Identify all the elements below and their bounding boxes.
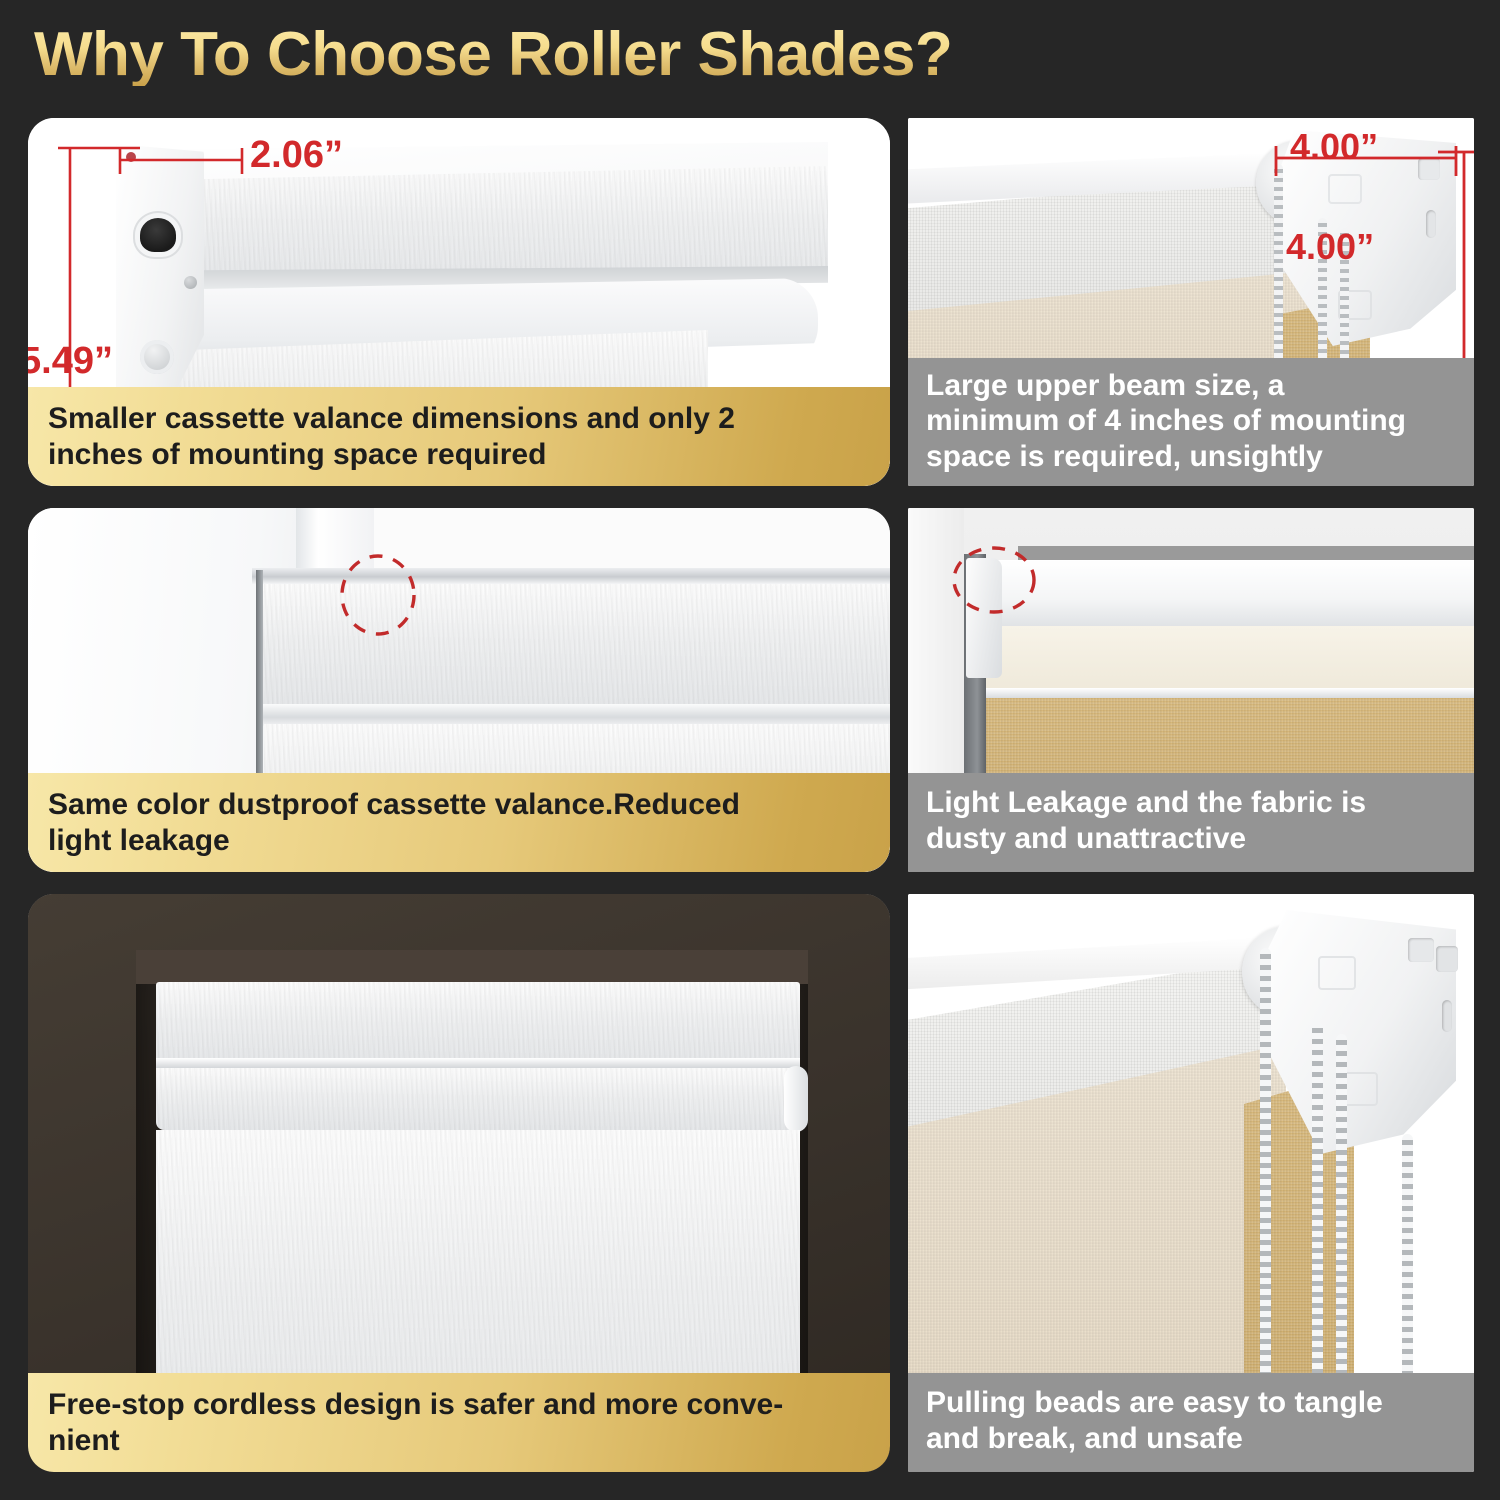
bracket-slot-upper [1418, 158, 1440, 180]
valance-bottom-lip [156, 1058, 800, 1068]
panel-pro-cassette-size: 2.06” 5.49” Smaller cassette valance dim… [28, 118, 890, 486]
bracket-screw-upper [184, 276, 197, 289]
caption-pro-small-gap: Same color dustproof cassette valance.Re… [28, 773, 890, 872]
panel-con-pull-beads: Pulling beads are easy to tangle and bre… [908, 894, 1474, 1472]
shade-fabric-upper [260, 584, 890, 710]
fabric-band-edge [968, 688, 1474, 698]
caption-line: minimum of 4 inches of mounting [926, 403, 1458, 438]
caption-line: and break, and unsafe [926, 1421, 1458, 1456]
roller-tube [958, 560, 1474, 632]
cassette-headrail [252, 568, 890, 584]
panel-pro-cordless: Free-stop cordless design is safer and m… [28, 894, 890, 1472]
bracket-emblem-upper [1318, 956, 1356, 990]
caption-line: nient [48, 1423, 872, 1458]
bracket-slot-corner [1436, 946, 1458, 972]
bracket-detail [966, 558, 1002, 678]
roller-tube-end-cap [784, 1066, 808, 1132]
caption-line: Pulling beads are easy to tangle [926, 1385, 1458, 1420]
bracket-slot-side [1442, 1000, 1452, 1032]
bracket-slot-lower [1426, 210, 1436, 238]
caption-line: Light Leakage and the fabric is [926, 785, 1458, 820]
panel-pro-small-gap: smaller gap Same color dustproof cassett… [28, 508, 890, 872]
caption-line: dusty and unattractive [926, 821, 1458, 856]
window-recess-top [136, 950, 808, 984]
caption-pro-cordless: Free-stop cordless design is safer and m… [28, 1373, 890, 1472]
bracket-emblem-upper [1328, 174, 1362, 204]
dimension-label-width: 4.00” [1290, 126, 1378, 168]
caption-line: Same color dustproof cassette valance.Re… [48, 787, 872, 822]
cassette-valance [156, 982, 800, 1064]
caption-line: Free-stop cordless design is safer and m… [48, 1387, 872, 1422]
caption-line: Large upper beam size, a [926, 368, 1458, 403]
caption-pro-cassette-size: Smaller cassette valance dimensions and … [28, 387, 890, 486]
dimension-label-width: 2.06” [250, 134, 343, 177]
caption-con-beam-size: Large upper beam size, a minimum of 4 in… [908, 358, 1474, 486]
panel-con-beam-size: 4.00” 4.00” Large upper beam size, a min… [908, 118, 1474, 486]
bracket-clutch-slot [140, 218, 176, 252]
panel-con-large-gap: Large gap Light Leakage and the fabric i… [908, 508, 1474, 872]
dimension-label-height: 5.49” [28, 340, 113, 383]
cream-fabric-band [968, 626, 1474, 692]
caption-con-large-gap: Light Leakage and the fabric is dusty an… [908, 773, 1474, 872]
page-title: Why To Choose Roller Shades? [34, 24, 952, 86]
caption-con-pull-beads: Pulling beads are easy to tangle and bre… [908, 1373, 1474, 1472]
bracket-screw-lower [140, 340, 174, 374]
caption-line: Smaller cassette valance dimensions and … [48, 401, 872, 436]
bracket-top-screw [126, 152, 136, 162]
dimension-label-height: 4.00” [1286, 226, 1374, 268]
caption-line: space is required, unsightly [926, 439, 1458, 474]
caption-line: inches of mounting space required [48, 437, 872, 472]
bracket-slot-top [1408, 938, 1434, 962]
roller-tube-row [156, 1068, 800, 1130]
shade-bottom-rail [260, 704, 890, 726]
caption-line: light leakage [48, 823, 872, 858]
